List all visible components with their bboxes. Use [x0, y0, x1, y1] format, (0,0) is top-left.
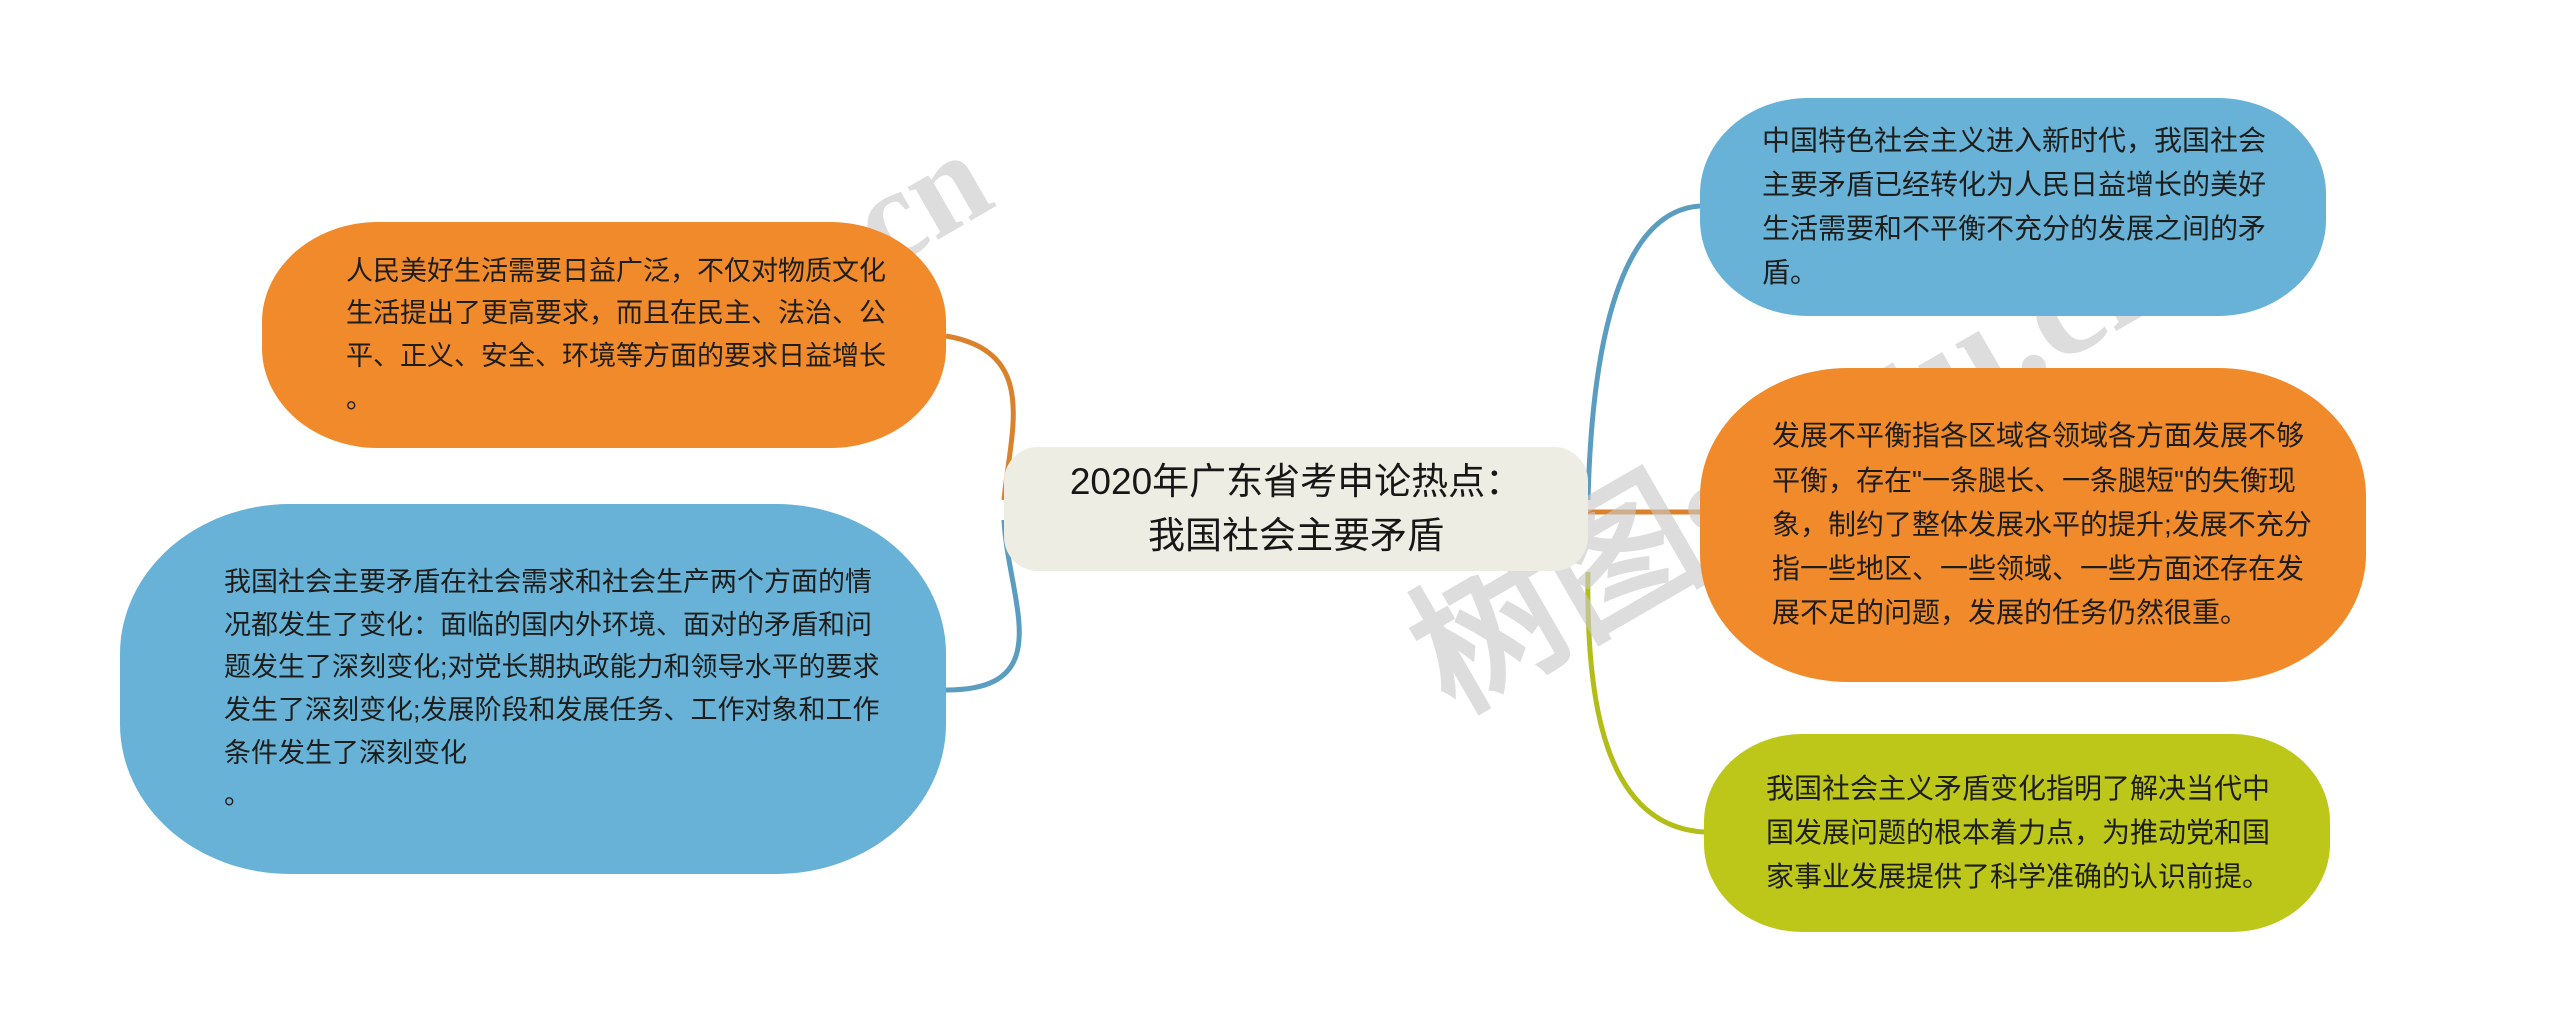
link-needs-icon — [946, 336, 1013, 500]
branch-node-needs-label: 人民美好生活需要日益广泛，不仅对物质文化生活提出了更高要求，而且在民主、法治、公… — [346, 250, 900, 421]
central-topic-node[interactable]: 2020年广东省考申论热点：我国社会主要矛盾 — [1004, 447, 1588, 571]
branch-node-change-label: 我国社会主要矛盾在社会需求和社会生产两个方面的情况都发生了变化：面临的国内外环境… — [224, 561, 880, 817]
branch-node-significance[interactable]: 我国社会主义矛盾变化指明了解决当代中国发展问题的根本着力点，为推动党和国家事业发… — [1704, 734, 2330, 932]
branch-node-change[interactable]: 我国社会主要矛盾在社会需求和社会生产两个方面的情况都发生了变化：面临的国内外环境… — [120, 504, 946, 874]
mindmap-canvas: shutu.cn 树图shutu.cn 人民美好生活需要日益广泛，不仅对物质文化… — [0, 0, 2560, 1017]
branch-node-unbalanced-label: 发展不平衡指各区域各领域各方面发展不够平衡，存在"一条腿长、一条腿短"的失衡现象… — [1772, 414, 2324, 635]
branch-node-significance-label: 我国社会主义矛盾变化指明了解决当代中国发展问题的根本着力点，为推动党和国家事业发… — [1766, 767, 2288, 900]
branch-node-needs[interactable]: 人民美好生活需要日益广泛，不仅对物质文化生活提出了更高要求，而且在民主、法治、公… — [262, 222, 946, 448]
branch-node-unbalanced[interactable]: 发展不平衡指各区域各领域各方面发展不够平衡，存在"一条腿长、一条腿短"的失衡现象… — [1700, 368, 2366, 682]
branch-node-newera-label: 中国特色社会主义进入新时代，我国社会主要矛盾已经转化为人民日益增长的美好生活需要… — [1762, 119, 2284, 296]
link-significance-icon — [1588, 572, 1704, 832]
central-topic-label: 2020年广东省考申论热点：我国社会主要矛盾 — [1038, 455, 1554, 562]
link-newera-icon — [1588, 206, 1700, 500]
branch-node-newera[interactable]: 中国特色社会主义进入新时代，我国社会主要矛盾已经转化为人民日益增长的美好生活需要… — [1700, 98, 2326, 316]
